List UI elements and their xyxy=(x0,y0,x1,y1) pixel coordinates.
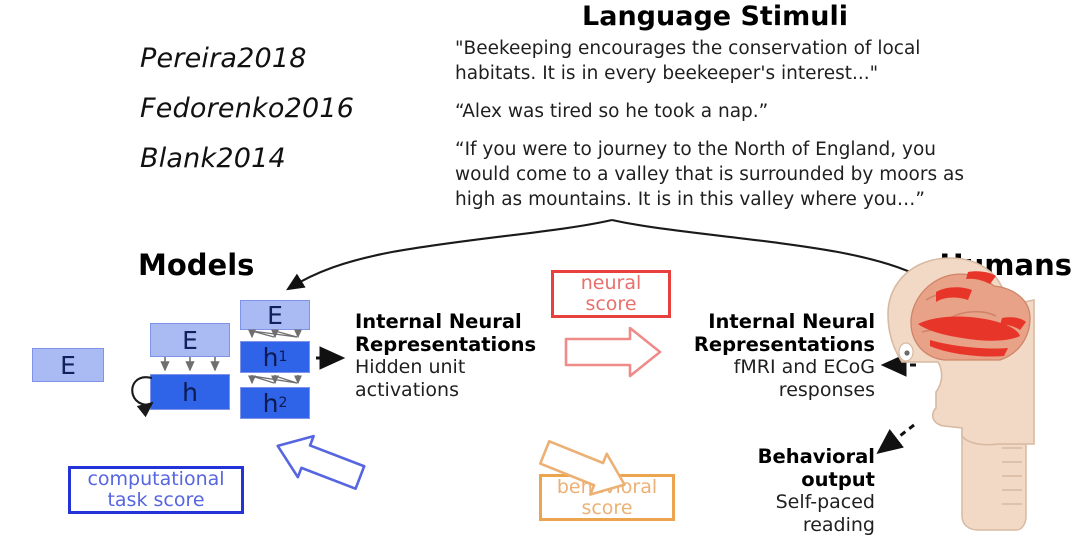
predict-neural-label: predict xyxy=(572,341,645,365)
dataset-item: Pereira2018 xyxy=(140,34,440,84)
perform-arrow: perform xyxy=(270,425,368,498)
humans-column-header: Humans xyxy=(939,248,1072,282)
task-score-line2: task score xyxy=(107,489,204,511)
stimulus-item: "Beekeeping encourages the conservation … xyxy=(455,36,975,86)
language-stimuli-panel: Language Stimuli "Beekeeping encourages … xyxy=(455,0,975,225)
hidden-block-subscript: 1 xyxy=(278,350,287,364)
model3-connections-e-h1 xyxy=(252,330,298,337)
hidden-block-label: h xyxy=(263,345,279,370)
model-repr-sub-line2: activations xyxy=(355,379,570,402)
behavioral-title-line2: output xyxy=(690,468,875,491)
dataset-item: Blank2014 xyxy=(140,134,440,184)
model3-connections-h1-h2 xyxy=(252,375,298,383)
model2-embedding-block: E xyxy=(150,323,230,357)
brain-gyri xyxy=(922,294,996,336)
model2-hidden-block: h xyxy=(150,374,230,410)
model-representations-block: Internal Neural Representations Hidden u… xyxy=(355,310,570,402)
dataset-item: Fedorenko2016 xyxy=(140,84,440,134)
perform-label: perform xyxy=(273,436,360,488)
human-repr-title-line2: Representations xyxy=(660,333,875,356)
neural-score-line2: score xyxy=(585,293,636,315)
model-repr-title-line1: Internal Neural xyxy=(355,310,570,333)
predict-neural-arrow: predict xyxy=(566,328,660,376)
figure-root: Pereira2018 Fedorenko2016 Blank2014 Lang… xyxy=(0,0,1080,558)
models-column-header: Models xyxy=(138,248,254,282)
hidden-block-subscript: 2 xyxy=(278,396,287,410)
model-repr-title-line2: Representations xyxy=(355,333,570,356)
behavioral-score-box: behavioral score xyxy=(539,474,675,521)
behavioral-sub-line2: reading xyxy=(690,514,875,537)
page-title: Language Stimuli xyxy=(455,0,975,36)
stimulus-item: “Alex was tired so he took a nap.” xyxy=(455,99,975,124)
model2-connections xyxy=(165,357,215,370)
stimulus-item: “If you were to journey to the North of … xyxy=(455,137,975,212)
hidden-block-label: h xyxy=(263,391,279,416)
human-repr-sub-line1: fMRI and ECoG xyxy=(660,356,875,379)
behavioral-output-block: Behavioral output Self-paced reading xyxy=(690,445,875,537)
behavioral-sub-line1: Self-paced xyxy=(690,491,875,514)
behavioral-score-line2: score xyxy=(581,497,632,519)
task-score-line1: computational xyxy=(87,468,224,490)
human-repr-title-line1: Internal Neural xyxy=(660,310,875,333)
neural-score-line1: neural xyxy=(581,272,642,294)
computational-task-score-box: computational task score xyxy=(68,466,244,514)
dataset-list: Pereira2018 Fedorenko2016 Blank2014 xyxy=(140,34,440,184)
neck-texture xyxy=(1002,448,1022,504)
model3-hidden-block-1: h1 xyxy=(240,341,310,373)
model-repr-sub-line1: Hidden unit xyxy=(355,356,570,379)
behavioral-title-line1: Behavioral xyxy=(690,445,875,468)
brain-language-regions xyxy=(918,271,1026,356)
model3-embedding-block: E xyxy=(240,300,310,330)
brain-to-behavior-arrow xyxy=(879,425,914,452)
neural-score-box: neural score xyxy=(551,270,671,318)
model3-hidden-block-2: h2 xyxy=(240,387,310,419)
eye-icon xyxy=(899,343,913,361)
model1-embedding-block: E xyxy=(32,348,104,382)
human-repr-sub-line2: responses xyxy=(660,379,875,402)
brain-head-illustration xyxy=(888,258,1034,530)
pupil-icon xyxy=(904,350,909,355)
human-representations-block: Internal Neural Representations fMRI and… xyxy=(660,310,875,402)
behavioral-score-line1: behavioral xyxy=(557,476,657,498)
